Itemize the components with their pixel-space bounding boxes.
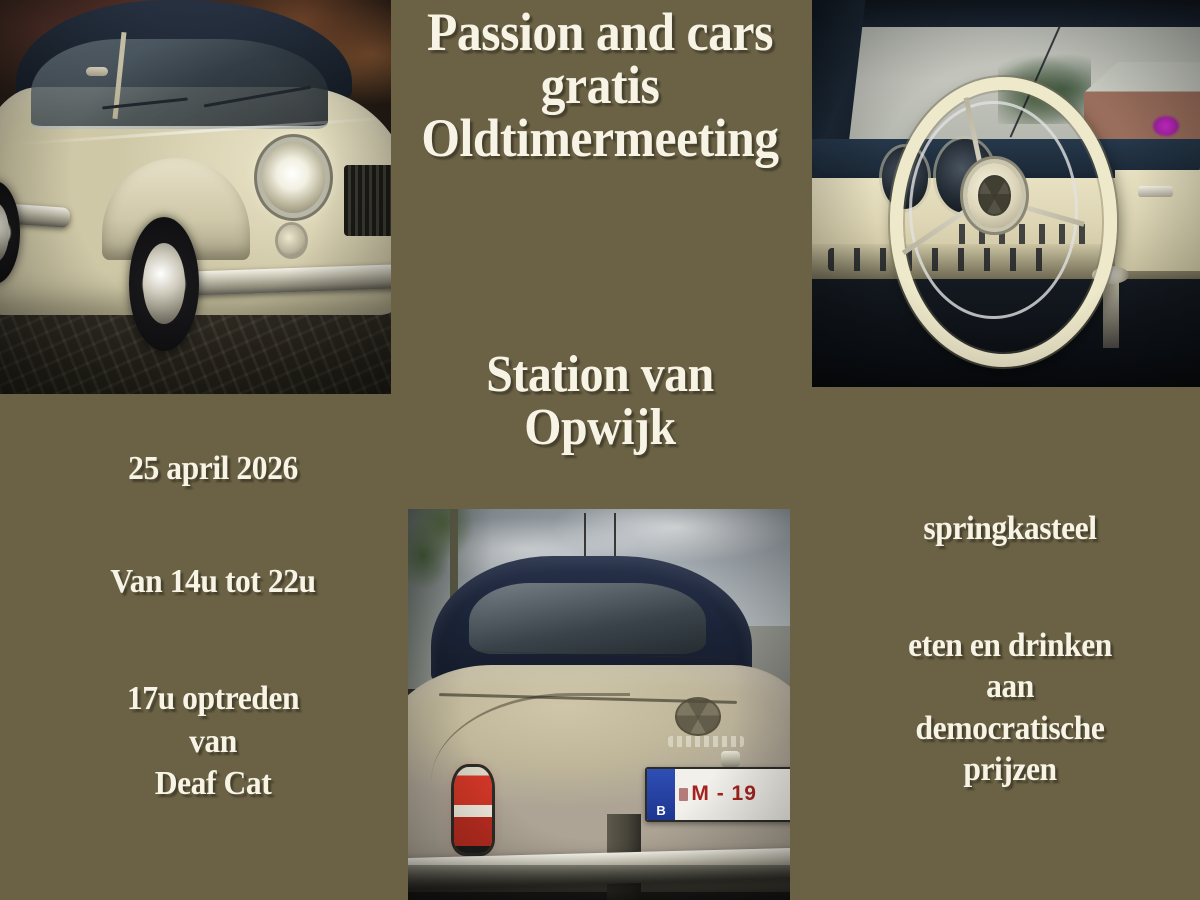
food-line-3: democratische <box>857 708 1164 749</box>
poster-venue: Station van Opwijk <box>407 348 793 454</box>
performance-line-1: 17u optreden <box>60 678 367 721</box>
performance-line-2: van <box>60 721 367 764</box>
food-line-1: eten en drinken <box>857 625 1164 666</box>
food-line-4: prijzen <box>857 749 1164 790</box>
event-hours: Van 14u tot 22u <box>60 565 367 600</box>
event-performance: 17u optreden van Deaf Cat <box>60 678 367 806</box>
photo-vignette <box>812 0 1200 387</box>
food-and-drink-info: eten en drinken aan democratische prijze… <box>857 625 1164 791</box>
event-date: 25 april 2026 <box>60 452 367 487</box>
photo-classic-car-rear: B M - 19 <box>408 509 790 900</box>
food-line-2: aan <box>857 666 1164 707</box>
photo-vignette <box>408 509 790 900</box>
performance-line-3: Deaf Cat <box>60 763 367 806</box>
venue-line-2: Opwijk <box>407 401 793 454</box>
photo-vignette <box>0 0 391 394</box>
headline-line-3: Oldtimermeeting <box>407 112 793 165</box>
photo-classic-car-interior <box>812 0 1200 387</box>
photo-classic-car-front <box>0 0 391 394</box>
attraction-bouncy-castle: springkasteel <box>857 512 1164 547</box>
venue-line-1: Station van <box>407 348 793 401</box>
poster-headline: Passion and cars gratis Oldtimermeeting <box>407 6 793 165</box>
headline-line-2: gratis <box>407 59 793 112</box>
headline-line-1: Passion and cars <box>407 6 793 59</box>
poster-canvas: B M - 19 Passion and cars gratis Oldtime… <box>0 0 1200 900</box>
